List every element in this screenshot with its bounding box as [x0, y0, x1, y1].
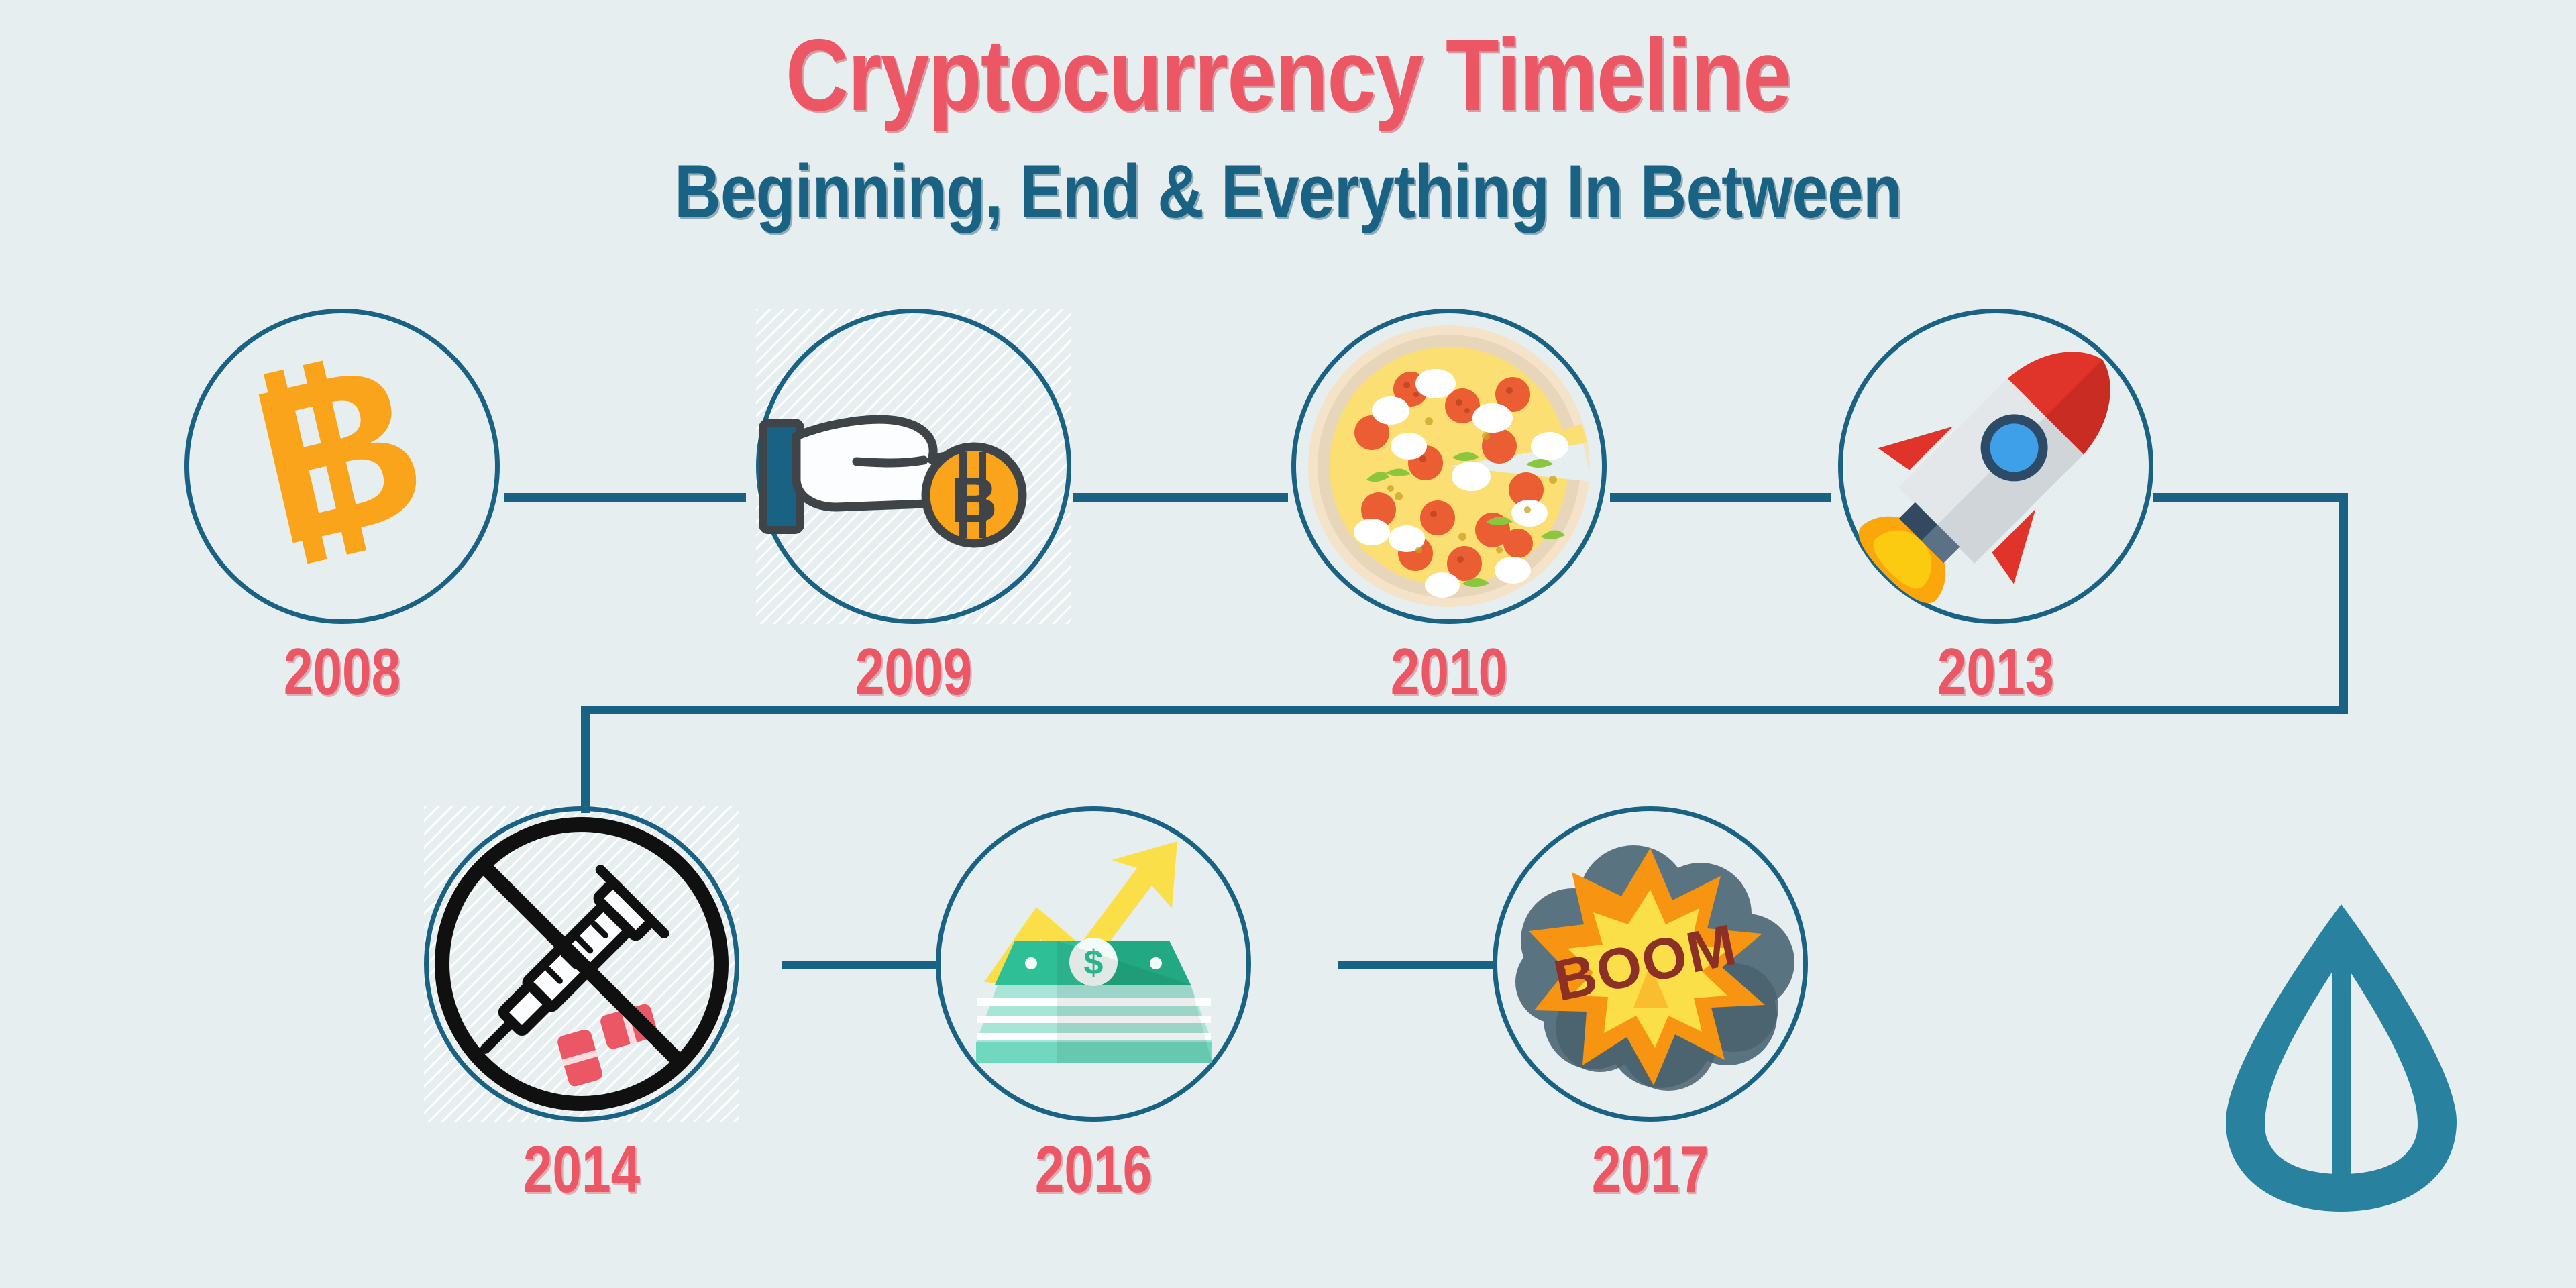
- year-label: 2008: [216, 639, 468, 704]
- connector-2008-2009: [504, 493, 746, 502]
- year-label: 2009: [788, 639, 1040, 704]
- teal-droplet-logo: [2207, 885, 2475, 1221]
- connector-2010-2013: [1610, 493, 1831, 502]
- connector-2009-2010: [1073, 493, 1288, 502]
- connector-2013-right: [2153, 493, 2348, 502]
- money-stack-rising-arrow-icon: $: [936, 806, 1251, 1122]
- no-drugs-syringe-icon: [424, 806, 739, 1122]
- bitcoin-symbol-icon: B: [184, 309, 500, 624]
- infographic-canvas: Cryptocurrency Timeline Beginning, End &…: [0, 0, 2576, 1288]
- year-label: 2013: [1870, 639, 2122, 704]
- connector-down-to-2014: [581, 706, 590, 813]
- pizza-with-slice-icon: [1291, 309, 1607, 624]
- year-label: 2016: [967, 1136, 1220, 1202]
- connector-2014-2016: [782, 961, 936, 969]
- boom-explosion-icon: BOOM: [1493, 806, 1808, 1122]
- connector-2016-2017: [1338, 961, 1493, 969]
- hand-passing-bitcoin-coin-icon: B: [756, 309, 1071, 624]
- year-label: 2010: [1323, 639, 1575, 704]
- svg-text:B: B: [951, 464, 997, 536]
- page-title: Cryptocurrency Timeline: [180, 24, 2396, 126]
- rocket-launch-icon: [1838, 309, 2153, 624]
- connector-right-vertical: [2339, 493, 2348, 714]
- year-label: 2017: [1524, 1136, 1776, 1202]
- year-label: 2014: [455, 1136, 708, 1202]
- page-subtitle: Beginning, End & Everything In Between: [180, 154, 2396, 229]
